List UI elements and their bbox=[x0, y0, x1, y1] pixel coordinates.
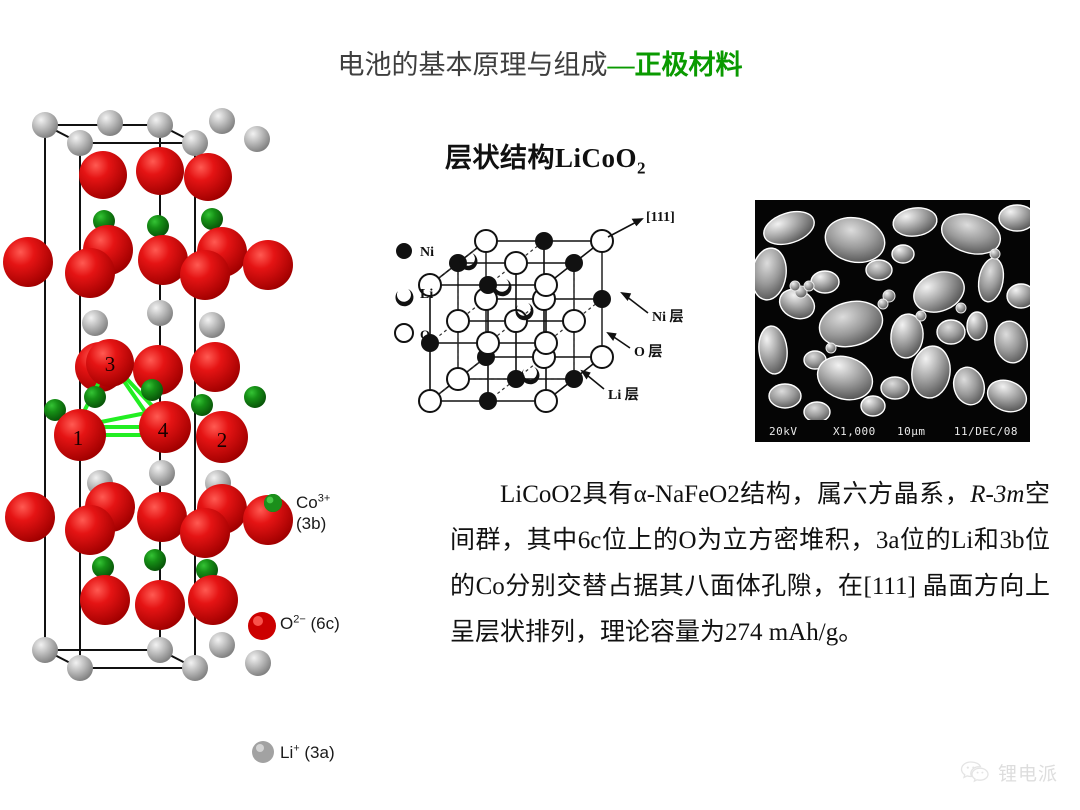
sem-micrograph: 20kV X1,000 10μm 11/DEC/08 bbox=[755, 200, 1030, 442]
paragraph-part-1: LiCoO2具有α-NaFeO2结构，属六方晶系， bbox=[500, 481, 970, 508]
sem-voltage: 20kV bbox=[769, 425, 798, 438]
svg-text:2: 2 bbox=[217, 428, 228, 452]
sem-scale-text: 10μm bbox=[897, 425, 926, 438]
o-layer-5 bbox=[5, 482, 293, 558]
sem-image bbox=[755, 200, 1030, 442]
licoo2-unit-cell-diagram: 3 1 4 2 bbox=[0, 105, 420, 705]
lattice-svg: [111] Ni 层 O 层 Li 层 Ni Li O bbox=[390, 193, 740, 438]
legend-ni-icon bbox=[396, 243, 412, 259]
li-legend-marker bbox=[250, 739, 276, 765]
structure-heading-text: 层状结构LiCoO bbox=[445, 143, 637, 173]
lattice-legend: Ni Li O bbox=[395, 243, 434, 342]
o-layer-4: 1 4 2 bbox=[54, 401, 248, 463]
annotation-li-layer: Li 层 bbox=[608, 387, 639, 403]
legend-label-o: O2− (6c) bbox=[280, 609, 340, 634]
sem-status-bar: 20kV X1,000 10μm 11/DEC/08 bbox=[755, 420, 1030, 442]
sem-date: 11/DEC/08 bbox=[954, 425, 1018, 438]
structure-heading-sub: 2 bbox=[637, 158, 646, 177]
li-layer-mid bbox=[82, 300, 225, 338]
watermark-text: 锂电派 bbox=[998, 759, 1058, 786]
legend-ni-label: Ni bbox=[420, 245, 434, 260]
annotation-o-layer: O 层 bbox=[634, 344, 662, 360]
legend-co-site: (3b) bbox=[296, 514, 326, 533]
structure-heading: 层状结构LiCoO2 bbox=[445, 136, 646, 178]
page-title: 电池的基本原理与组成—正极材料 bbox=[0, 48, 1080, 82]
legend-li-text: Li+ (3a) bbox=[280, 743, 335, 762]
li-layer-bottom bbox=[32, 632, 271, 681]
legend-o-icon bbox=[395, 324, 413, 342]
svg-text:4: 4 bbox=[158, 418, 169, 442]
o-legend-marker bbox=[246, 610, 278, 642]
legend-co-text: Co3+ bbox=[296, 493, 330, 512]
cubic-close-packed-lattice: [111] Ni 层 O 层 Li 层 Ni Li O bbox=[390, 193, 740, 438]
legend-li-icon bbox=[395, 289, 413, 306]
legend-label-li: Li+ (3a) bbox=[280, 738, 335, 763]
title-main-text: 电池的基本原理与组成 bbox=[338, 50, 608, 80]
legend-label-co: Co3+(3b) bbox=[296, 488, 330, 534]
legend-o-label: O bbox=[420, 327, 430, 342]
title-accent-text: —正极材料 bbox=[608, 50, 743, 80]
o-layer-6 bbox=[80, 575, 238, 630]
body-paragraph: LiCoO2具有α-NaFeO2结构，属六方晶系，R-3m空间群，其中6c位上的… bbox=[450, 472, 1050, 656]
svg-text:3: 3 bbox=[105, 352, 116, 376]
wechat-icon bbox=[960, 760, 990, 786]
annotation-ni-layer: Ni 层 bbox=[652, 309, 684, 325]
li-crescents bbox=[459, 253, 539, 384]
co-legend-marker bbox=[262, 492, 284, 514]
legend-li-label: Li bbox=[420, 287, 433, 302]
o-layer-2 bbox=[3, 225, 293, 300]
o-layer-1 bbox=[79, 147, 232, 201]
svg-text:1: 1 bbox=[73, 426, 84, 450]
watermark: 锂电派 bbox=[960, 759, 1058, 786]
labelled-oxygen-atoms: 3 bbox=[86, 339, 134, 387]
lattice-sites bbox=[419, 230, 613, 412]
paragraph-space-group: R-3m bbox=[970, 481, 1024, 508]
unit-cell-svg: 3 1 4 2 bbox=[0, 105, 420, 705]
annotation-direction: [111] bbox=[646, 210, 675, 225]
sem-magnification: X1,000 bbox=[833, 425, 876, 438]
legend-o-text: O2− (6c) bbox=[280, 614, 340, 633]
